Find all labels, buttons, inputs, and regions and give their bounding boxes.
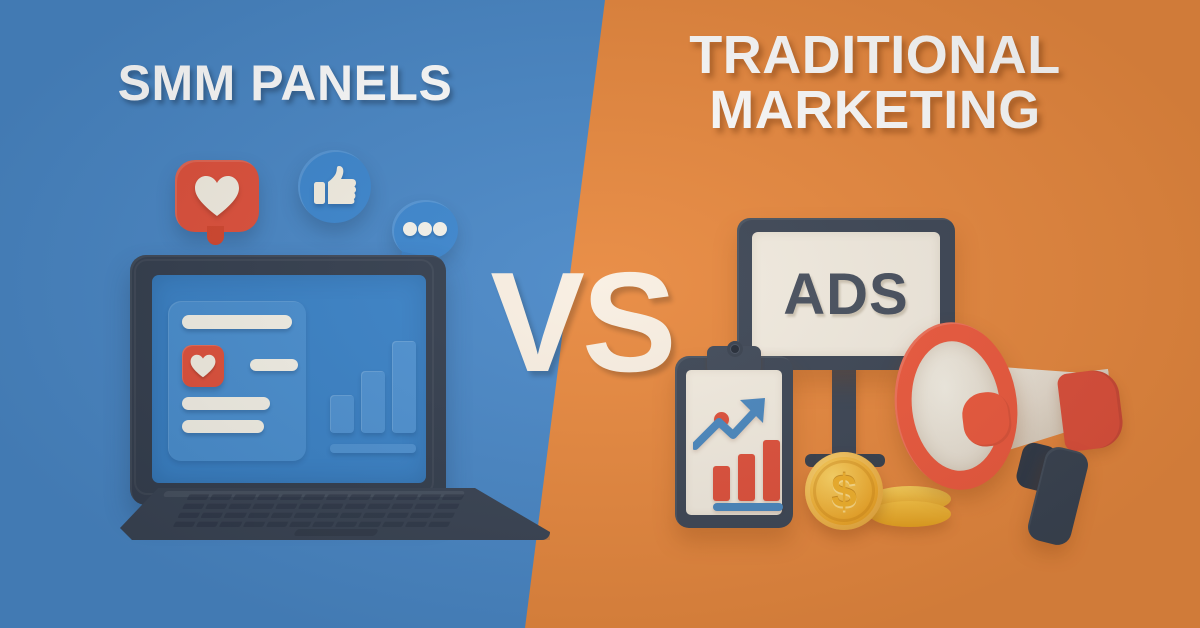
text-bar-1: [182, 315, 292, 329]
text-bar-4: [182, 420, 264, 433]
laptop-screen: [152, 275, 426, 483]
right-title-line-1: TRADITIONAL: [640, 28, 1110, 83]
banner-canvas: SMM PANELS TRADITIONAL MARKETING: [0, 0, 1200, 628]
text-bar-2: [250, 359, 298, 371]
traditional-marketing-illustration: ADS $: [655, 218, 1135, 573]
left-panel-title: SMM PANELS: [60, 58, 510, 109]
megaphone-cap: [1056, 368, 1125, 453]
clipboard-bar-1: [713, 466, 730, 501]
megaphone-icon: [891, 318, 1141, 548]
right-title-line-2: MARKETING: [640, 83, 1110, 138]
heart-bubble-tail: [207, 226, 224, 245]
clipboard-baseline: [713, 503, 783, 511]
text-bar-3: [182, 397, 270, 410]
like-heart-button[interactable]: [182, 345, 224, 387]
heart-bubble-icon: [175, 160, 259, 232]
comment-dot-2: [418, 222, 432, 236]
screen-chart-bar-3: [392, 341, 416, 433]
social-post-card: [168, 301, 306, 461]
right-panel-title: TRADITIONAL MARKETING: [640, 28, 1110, 138]
versus-label: VS: [487, 255, 677, 390]
megaphone-rim: [885, 315, 1027, 497]
coin-dollar-symbol: $: [805, 452, 883, 530]
comment-dot-1: [403, 222, 417, 236]
comment-dots-icon: [392, 200, 458, 260]
thumbs-up-icon: [298, 150, 371, 223]
clipboard-bar-3: [763, 440, 780, 501]
megaphone-mouth: [904, 336, 1007, 476]
laptop-base: [120, 488, 550, 550]
screen-chart-bar-2: [361, 371, 385, 433]
megaphone-plug: [960, 390, 1014, 449]
screen-chart-baseline: [330, 444, 416, 453]
laptop-trackpad: [293, 529, 379, 536]
laptop-keyboard: [174, 494, 464, 524]
laptop-lid: [130, 255, 446, 505]
clipboard-bar-2: [738, 454, 755, 501]
screen-chart-bar-1: [330, 395, 354, 433]
clipboard-hole: [727, 341, 743, 357]
comment-dot-3: [433, 222, 447, 236]
laptop-deck: [120, 488, 550, 540]
dollar-coin-icon: $: [805, 452, 883, 530]
billboard-post: [832, 368, 856, 460]
report-clipboard: [675, 356, 793, 528]
laptop-illustration: [120, 255, 550, 565]
clipboard-page: [686, 370, 782, 515]
